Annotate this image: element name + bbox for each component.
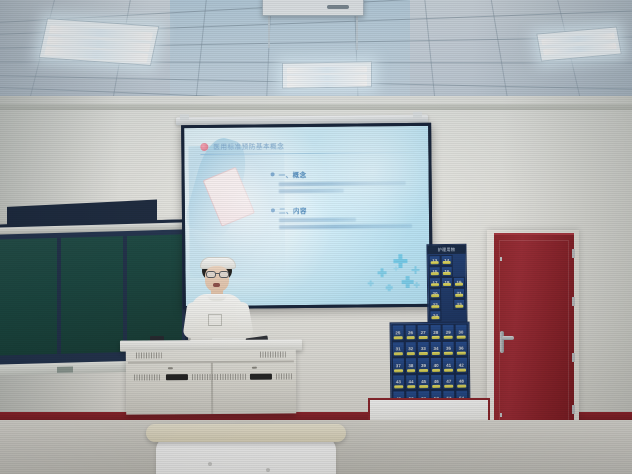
pocket-16[interactable]: 16 <box>441 266 453 277</box>
cross-glyph-icon <box>412 269 420 272</box>
pocket-48[interactable]: 48 <box>455 373 468 390</box>
lectern-knob-left[interactable] <box>168 367 173 369</box>
pocket-17[interactable]: 17 <box>429 277 441 288</box>
pocket-20[interactable]: 20 <box>429 288 441 299</box>
lectern-vent-left-1 <box>134 374 160 380</box>
pocket-23[interactable]: 23 <box>453 299 465 310</box>
cross-glyph-icon <box>393 259 407 264</box>
lectern-vent-top-left <box>136 352 162 358</box>
pocket-28[interactable]: 28 <box>429 324 442 341</box>
pocket-43[interactable]: 43 <box>392 374 405 391</box>
projector-icon <box>262 0 364 16</box>
pocket-number: 29 <box>446 330 451 335</box>
pocket-45[interactable]: 45 <box>417 374 430 391</box>
pocket-lip <box>407 369 416 372</box>
eyeglass-lens-right-icon <box>219 271 229 278</box>
pocket-lip <box>431 305 439 308</box>
pocket-26[interactable]: 26 <box>404 324 417 341</box>
pocket-number: 33 <box>421 346 426 351</box>
pocket-lip <box>419 336 428 339</box>
presenter-chest-pocket <box>208 314 222 326</box>
pocket-44[interactable]: 44 <box>405 374 418 391</box>
pocket-47[interactable]: 47 <box>442 373 455 390</box>
pocket-number: 28 <box>433 330 438 335</box>
pocket-number: 30 <box>458 329 463 334</box>
pocket-number: 36 <box>459 346 464 351</box>
pocket-lip <box>445 385 454 388</box>
pocket-lip <box>455 294 463 297</box>
pocket-lip <box>457 368 466 371</box>
pocket-21[interactable]: 21 <box>453 288 465 299</box>
pocket-31[interactable]: 31 <box>392 341 405 358</box>
pocket-46[interactable]: 46 <box>430 373 443 390</box>
pocket-lip <box>444 352 453 355</box>
classroom-door[interactable] <box>494 233 574 428</box>
pocket-lip <box>444 335 453 338</box>
lectern-knob-right[interactable] <box>252 367 257 369</box>
pocket-lip <box>394 385 403 388</box>
pocket-lip <box>443 283 451 286</box>
door-hinge-bottom <box>572 405 575 414</box>
pocket-18[interactable]: 18 <box>441 277 453 288</box>
pocket-lip <box>457 352 466 355</box>
lectern-vent-right-2 <box>276 373 292 379</box>
pocket-13[interactable]: 13 <box>429 255 441 266</box>
pocket-lip <box>394 369 403 372</box>
nursing-instructor <box>186 258 248 346</box>
presenter-mouth <box>213 283 220 287</box>
pocket-14[interactable]: 14 <box>441 255 453 266</box>
blackboard-seam-2 <box>123 236 127 352</box>
pocket-lip <box>444 368 453 371</box>
door-hinge-lower <box>572 353 575 362</box>
hospital-bed <box>146 424 346 474</box>
pocket-27[interactable]: 27 <box>417 324 430 341</box>
door-stud-bottom <box>500 413 502 417</box>
pocket-34[interactable]: 34 <box>430 340 443 357</box>
pocket-lip <box>432 368 441 371</box>
door-hinge-top <box>572 249 575 258</box>
pocket-35[interactable]: 35 <box>442 340 455 357</box>
medical-cross-decoration-icon <box>363 250 425 297</box>
pocket-19[interactable]: 19 <box>453 277 465 288</box>
pocket-lip <box>431 261 439 264</box>
pocket-chart-upper: 护理用物 131415161718192021222324 <box>426 244 467 327</box>
pocket-lip <box>431 272 439 275</box>
pocket-number: 44 <box>409 379 414 384</box>
pocket-number: 25 <box>395 330 400 335</box>
ceiling-light-center <box>282 61 372 89</box>
pocket-36[interactable]: 36 <box>455 340 468 357</box>
pocket-number: 32 <box>408 346 413 351</box>
pocket-number: 31 <box>396 347 401 352</box>
pocket-number: 41 <box>446 363 451 368</box>
pocket-number: 46 <box>434 379 439 384</box>
pocket-lip <box>394 352 403 355</box>
pocket-38[interactable]: 38 <box>405 357 418 374</box>
cross-glyph-icon <box>368 282 374 284</box>
pocket-lip <box>419 369 428 372</box>
pocket-42[interactable]: 42 <box>455 357 468 374</box>
pocket-number: 47 <box>446 379 451 384</box>
pocket-number: 26 <box>408 330 413 335</box>
lectern-label-left <box>166 374 188 380</box>
pocket-lip <box>457 335 466 338</box>
pocket-37[interactable]: 37 <box>392 357 405 374</box>
lectern-body <box>126 349 296 414</box>
pocket-number: 42 <box>459 362 464 367</box>
pocket-number: 48 <box>459 379 464 384</box>
pocket-lip <box>455 305 463 308</box>
pocket-number: 37 <box>396 363 401 368</box>
pocket-lip <box>407 385 416 388</box>
lectern-door-split <box>211 362 213 414</box>
pocket-lip <box>406 336 415 339</box>
eraser <box>57 366 73 372</box>
pocket-30[interactable]: 30 <box>455 324 468 341</box>
blackboard-seam-1 <box>57 238 61 354</box>
bed-bolt-right <box>266 468 270 472</box>
lectern-vent-right-1 <box>220 374 246 380</box>
pocket-empty[interactable] <box>453 255 465 266</box>
pocket-lip <box>431 335 440 338</box>
door-hinge-middle <box>572 297 575 306</box>
pocket-lip <box>443 272 451 275</box>
cross-glyph-icon <box>402 280 414 284</box>
pocket-lip <box>457 385 466 388</box>
pocket-empty[interactable] <box>441 299 453 310</box>
pocket-number: 39 <box>421 363 426 368</box>
pocket-29[interactable]: 29 <box>442 324 455 341</box>
pocket-lip <box>432 352 441 355</box>
pocket-chart-lower-grid: 2526272829303132333435363738394041424344… <box>392 324 469 407</box>
classroom-photo-scene: 医用标准预防基本概念 一、概念 二、内容 <box>0 0 632 474</box>
lectern-vent-left-2 <box>192 374 218 380</box>
bed-bolt-left <box>208 462 212 466</box>
cross-glyph-icon <box>414 284 420 286</box>
door-inset-panel <box>499 240 569 428</box>
pocket-empty[interactable] <box>453 266 465 277</box>
pocket-lip <box>431 294 439 297</box>
ceiling-light-left <box>39 18 160 66</box>
pocket-lip <box>432 385 441 388</box>
door-stud-top <box>500 257 502 261</box>
pocket-33[interactable]: 33 <box>417 341 430 358</box>
pocket-lip <box>431 283 439 286</box>
eyeglass-bridge-icon <box>215 273 219 274</box>
lectern-label-right <box>250 374 272 380</box>
slide-glare-right <box>306 126 430 234</box>
cross-glyph-icon <box>378 271 387 274</box>
pocket-22[interactable]: 22 <box>429 299 441 310</box>
pocket-number: 38 <box>408 363 413 368</box>
pocket-40[interactable]: 40 <box>430 357 443 374</box>
projector-rod-right <box>356 10 358 50</box>
pocket-number: 45 <box>421 379 426 384</box>
lectern-vent-top-right <box>260 351 286 357</box>
pocket-chart-header: 护理用物 <box>427 245 465 255</box>
pocket-lip <box>406 352 415 355</box>
pocket-lip <box>443 261 451 264</box>
pocket-number: 34 <box>433 346 438 351</box>
pocket-lip <box>394 336 403 339</box>
pocket-lip <box>455 283 463 286</box>
pocket-lip <box>419 352 428 355</box>
cross-glyph-icon <box>394 268 399 270</box>
pocket-39[interactable]: 39 <box>417 357 430 374</box>
pocket-15[interactable]: 15 <box>429 266 441 277</box>
pocket-number: 43 <box>396 380 401 385</box>
bed-headboard-rail <box>146 424 346 442</box>
pocket-empty[interactable] <box>441 288 453 299</box>
door-lever-icon[interactable] <box>502 336 514 340</box>
cross-glyph-icon <box>386 287 393 289</box>
pocket-lip <box>431 316 439 319</box>
door-handle[interactable] <box>500 331 504 353</box>
pocket-number: 27 <box>421 330 426 335</box>
pocket-24[interactable]: 24 <box>429 310 441 321</box>
pocket-32[interactable]: 32 <box>404 341 417 358</box>
pocket-number: 35 <box>446 346 451 351</box>
pocket-lip <box>419 385 428 388</box>
pocket-chart-upper-grid: 131415161718192021222324 <box>429 255 466 321</box>
pocket-41[interactable]: 41 <box>442 357 455 374</box>
pocket-25[interactable]: 25 <box>392 324 405 341</box>
pocket-number: 40 <box>434 363 439 368</box>
